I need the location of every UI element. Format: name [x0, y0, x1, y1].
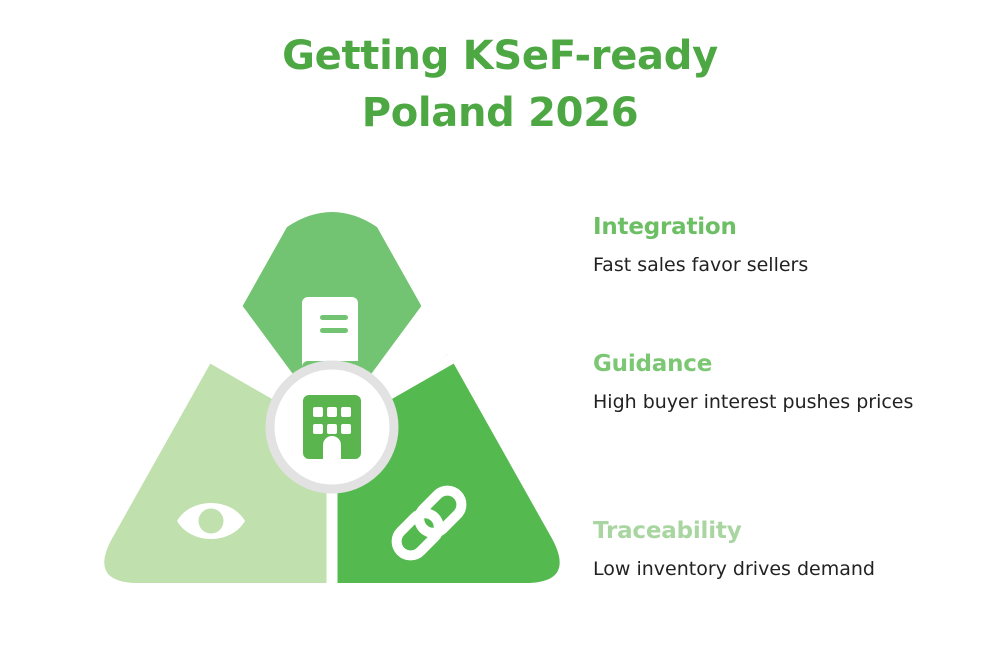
page-title-line-2: Poland 2026: [0, 85, 1000, 142]
item-description-integration: Fast sales favor sellers: [593, 250, 808, 280]
item-heading-integration: Integration: [593, 212, 808, 242]
item-heading-guidance: Guidance: [593, 349, 913, 379]
triangle-diagram-svg: [95, 205, 575, 625]
triangle-diagram: [95, 205, 575, 625]
list-item[interactable]: Integration Fast sales favor sellers: [593, 212, 808, 280]
page-title: Getting KSeF-ready Poland 2026: [0, 28, 1000, 142]
item-description-traceability: Low inventory drives demand: [593, 554, 875, 584]
item-description-guidance: High buyer interest pushes prices: [593, 387, 913, 417]
item-heading-traceability: Traceability: [593, 516, 875, 546]
list-item[interactable]: Traceability Low inventory drives demand: [593, 516, 875, 584]
page-title-line-1: Getting KSeF-ready: [0, 28, 1000, 85]
list-item[interactable]: Guidance High buyer interest pushes pric…: [593, 349, 913, 417]
